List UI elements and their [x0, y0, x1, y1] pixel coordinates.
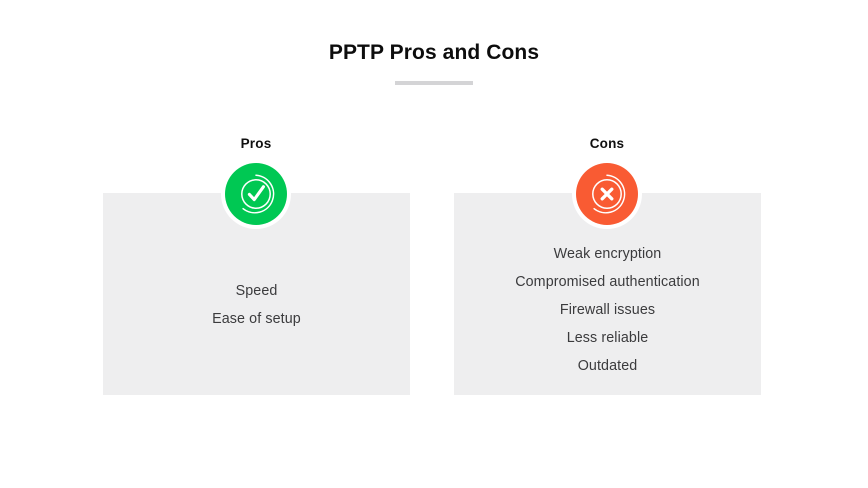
list-item: Outdated [454, 352, 761, 380]
list-item: Compromised authentication [454, 268, 761, 296]
list-item: Speed [103, 277, 410, 305]
cons-column: Cons Weak encryption Compromised authent… [427, 0, 787, 488]
cons-item-list: Weak encryption Compromised authenticati… [454, 240, 761, 380]
check-circle-icon [225, 163, 287, 225]
list-item: Firewall issues [454, 296, 761, 324]
pros-item-list: Speed Ease of setup [103, 277, 410, 333]
pros-column-heading: Pros [76, 136, 436, 151]
list-item: Weak encryption [454, 240, 761, 268]
cross-circle-icon [576, 163, 638, 225]
list-item: Less reliable [454, 324, 761, 352]
list-item: Ease of setup [103, 305, 410, 333]
pros-column: Pros Speed Ease of setup [76, 0, 436, 488]
cons-column-heading: Cons [427, 136, 787, 151]
